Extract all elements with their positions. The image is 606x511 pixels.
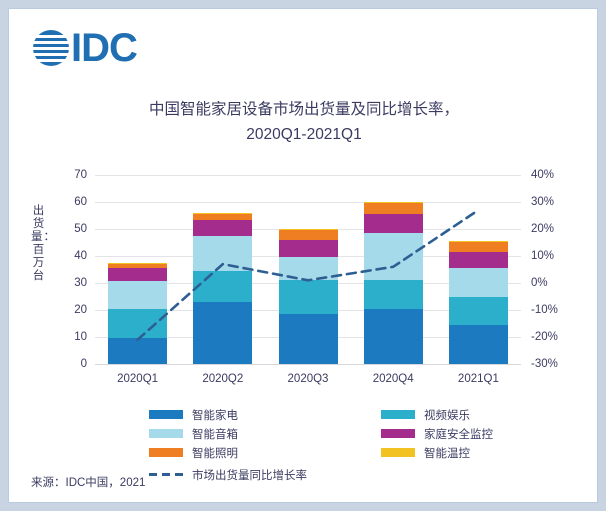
- secondary-y-axis-tick-label: 40%: [531, 169, 554, 181]
- bar-segment[interactable]: [364, 214, 423, 233]
- bar-segment[interactable]: [364, 203, 423, 214]
- bar-group[interactable]: 2021Q1: [449, 241, 508, 364]
- bar-segment[interactable]: [108, 309, 167, 339]
- idc-logo: IDC: [33, 27, 137, 69]
- legend-item[interactable]: 智能音箱: [149, 424, 238, 443]
- gridline: [95, 364, 521, 365]
- legend-swatch: [149, 429, 183, 438]
- bar-segment[interactable]: [449, 252, 508, 268]
- bar-segment[interactable]: [193, 220, 252, 235]
- legend-item[interactable]: 智能照明: [149, 443, 238, 462]
- x-axis-tick-label: 2021Q1: [428, 373, 528, 385]
- bar-segment[interactable]: [364, 233, 423, 280]
- legend-item[interactable]: 智能温控: [381, 443, 493, 462]
- legend-swatch: [381, 448, 415, 457]
- legend-swatch: [381, 429, 415, 438]
- bar-segment[interactable]: [193, 236, 252, 271]
- legend-swatch: [381, 410, 415, 419]
- bar-segment[interactable]: [449, 297, 508, 325]
- y-axis-label: 出货量：百万台: [31, 205, 47, 283]
- slide-canvas: IDC 中国智能家居设备市场出货量及同比增长率， 2020Q1-2021Q1 出…: [8, 8, 598, 503]
- y-axis-tick-label: 20: [74, 304, 87, 316]
- secondary-y-axis-tick-label: -30%: [531, 358, 558, 370]
- legend-item[interactable]: 家庭安全监控: [381, 424, 493, 443]
- y-axis-tick-label: 40: [74, 250, 87, 262]
- legend-label: 智能温控: [424, 445, 470, 461]
- bar-segment[interactable]: [108, 268, 167, 281]
- bar-segment[interactable]: [108, 338, 167, 364]
- secondary-y-axis-tick-label: -20%: [531, 331, 558, 343]
- legend-item[interactable]: 视频娱乐: [381, 405, 493, 424]
- legend-column-right: 视频娱乐家庭安全监控智能温控: [381, 405, 493, 462]
- legend-item[interactable]: 智能家电: [149, 405, 238, 424]
- legend-label: 视频娱乐: [424, 407, 470, 423]
- bar-group[interactable]: 2020Q4: [364, 202, 423, 364]
- bar-segment[interactable]: [279, 280, 338, 314]
- chart-title-line-2: 2020Q1-2021Q1: [69, 122, 539, 147]
- y-axis-tick-label: 0: [81, 358, 87, 370]
- legend-swatch: [149, 410, 183, 419]
- bar-group[interactable]: 2020Q1: [108, 263, 167, 364]
- bar-segment[interactable]: [449, 325, 508, 364]
- dashed-line-icon: [149, 470, 183, 479]
- bar-segment[interactable]: [449, 268, 508, 297]
- chart-title: 中国智能家居设备市场出货量及同比增长率， 2020Q1-2021Q1: [69, 97, 539, 147]
- gridline: [95, 175, 521, 176]
- secondary-y-axis-tick-label: 0%: [531, 277, 548, 289]
- bar-segment[interactable]: [193, 302, 252, 364]
- bar-segment[interactable]: [364, 280, 423, 309]
- bar-segment[interactable]: [193, 271, 252, 302]
- y-axis-tick-label: 50: [74, 223, 87, 235]
- plot-area: 010203040506070 -30%-20%-10%0%10%20%30%4…: [95, 175, 521, 364]
- bar-segment[interactable]: [364, 309, 423, 364]
- bar-segment[interactable]: [108, 281, 167, 309]
- legend-label: 智能音箱: [192, 426, 238, 442]
- bar-segment[interactable]: [279, 314, 338, 364]
- legend-trend-label: 市场出货量同比增长率: [192, 467, 307, 483]
- bar-segment[interactable]: [279, 257, 338, 280]
- globe-icon: [33, 30, 69, 66]
- legend-label: 智能家电: [192, 407, 238, 423]
- secondary-y-axis-tick-label: -10%: [531, 304, 558, 316]
- y-axis-tick-label: 70: [74, 169, 87, 181]
- bar-group[interactable]: 2020Q3: [279, 229, 338, 364]
- y-axis-tick-label: 10: [74, 331, 87, 343]
- bar-segment[interactable]: [449, 242, 508, 252]
- chart-title-line-1: 中国智能家居设备市场出货量及同比增长率，: [69, 97, 539, 122]
- y-axis-tick-label: 60: [74, 196, 87, 208]
- bar-segment[interactable]: [279, 240, 338, 257]
- secondary-y-axis-tick-label: 10%: [531, 250, 554, 262]
- y-axis-tick-label: 30: [74, 277, 87, 289]
- legend-item-trend: 市场出货量同比增长率: [149, 465, 307, 484]
- legend-label: 家庭安全监控: [424, 426, 493, 442]
- logo-wordmark: IDC: [71, 28, 137, 68]
- bar-segment[interactable]: [279, 230, 338, 240]
- gridline: [95, 202, 521, 203]
- legend-column-left: 智能家电智能音箱智能照明: [149, 405, 238, 462]
- legend-swatch: [149, 448, 183, 457]
- source-note: 来源：IDC中国，2021: [31, 474, 145, 490]
- secondary-y-axis-tick-label: 20%: [531, 223, 554, 235]
- legend-label: 智能照明: [192, 445, 238, 461]
- secondary-y-axis-tick-label: 30%: [531, 196, 554, 208]
- bar-group[interactable]: 2020Q2: [193, 213, 252, 364]
